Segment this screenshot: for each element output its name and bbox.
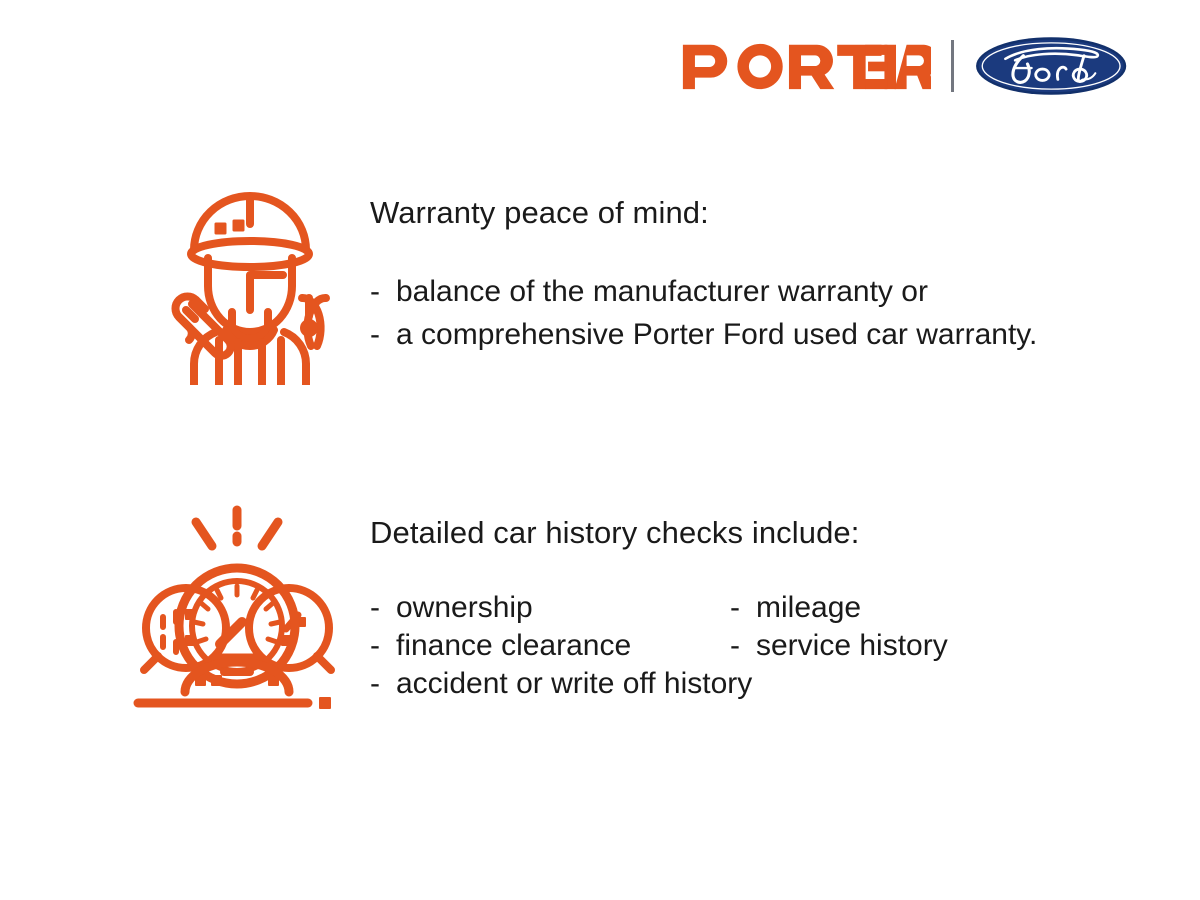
warranty-body: Warranty peace of mind: - balance of the… xyxy=(370,180,1170,356)
history-bullet-right: - mileage xyxy=(730,589,1170,627)
slide-canvas: Warranty peace of mind: - balance of the… xyxy=(0,0,1200,900)
warranty-bullet-list: - balance of the manufacturer warranty o… xyxy=(370,271,1170,356)
history-bullet-row: - finance clearance - service history xyxy=(370,627,1170,665)
history-bullet-text: accident or write off history xyxy=(396,665,752,703)
warranty-bullet-item: - balance of the manufacturer warranty o… xyxy=(370,271,1170,314)
history-bullet-left: - ownership xyxy=(370,589,730,627)
history-bullet-left: - finance clearance xyxy=(370,627,730,665)
history-checks-heading: Detailed car history checks include: xyxy=(370,514,1170,551)
history-checks-bullet-list: - ownership - mileage - finance clearanc… xyxy=(370,589,1170,703)
logo-divider xyxy=(951,40,954,92)
warranty-heading: Warranty peace of mind: xyxy=(370,194,1170,231)
history-bullet-text: finance clearance xyxy=(396,627,631,665)
bullet-dash-icon: - xyxy=(730,627,756,665)
bullet-dash-icon: - xyxy=(730,589,756,627)
history-bullet-row: - ownership - mileage xyxy=(370,589,1170,627)
warranty-bullet-text: balance of the manufacturer warranty or xyxy=(396,271,928,314)
history-checks-block: Detailed car history checks include: - o… xyxy=(130,500,1170,710)
brand-logo-lockup[interactable] xyxy=(680,30,1128,102)
history-bullet-right: - service history xyxy=(730,627,1170,665)
bullet-dash-icon: - xyxy=(370,665,396,703)
bullet-dash-icon: - xyxy=(370,589,396,627)
warranty-block: Warranty peace of mind: - balance of the… xyxy=(150,180,1170,385)
history-checks-body: Detailed car history checks include: - o… xyxy=(370,500,1170,703)
ford-oval-logo xyxy=(974,34,1128,98)
history-bullet-text: service history xyxy=(756,627,948,665)
mechanic-hard-hat-icon xyxy=(150,180,350,385)
bullet-dash-icon: - xyxy=(370,271,396,314)
dashboard-gauge-cluster-icon xyxy=(130,500,345,710)
history-bullet-text: mileage xyxy=(756,589,861,627)
porter-wordmark-logo xyxy=(680,41,931,91)
history-bullet-row: - accident or write off history xyxy=(370,665,1170,703)
bullet-dash-icon: - xyxy=(370,627,396,665)
bullet-dash-icon: - xyxy=(370,314,396,357)
history-bullet-text: ownership xyxy=(396,589,533,627)
warranty-bullet-text: a comprehensive Porter Ford used car war… xyxy=(396,314,1037,357)
warranty-bullet-item: - a comprehensive Porter Ford used car w… xyxy=(370,314,1170,357)
